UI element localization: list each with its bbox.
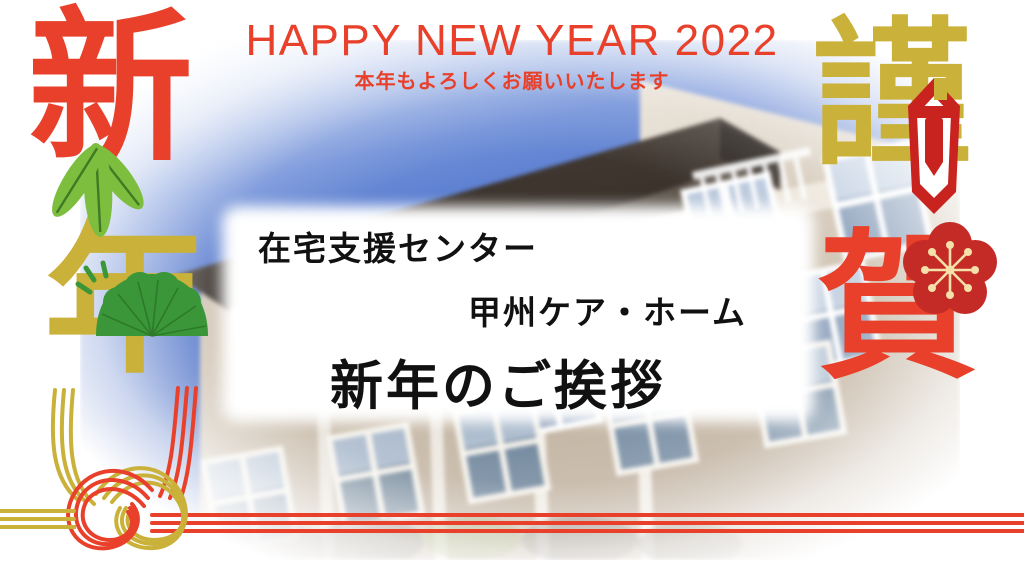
new-year-greeting-card: 新 年 謹 賀 bbox=[0, 0, 1024, 577]
ribbon-stripe-icon bbox=[168, 515, 1024, 531]
mizuhiki-layer bbox=[0, 0, 1024, 577]
